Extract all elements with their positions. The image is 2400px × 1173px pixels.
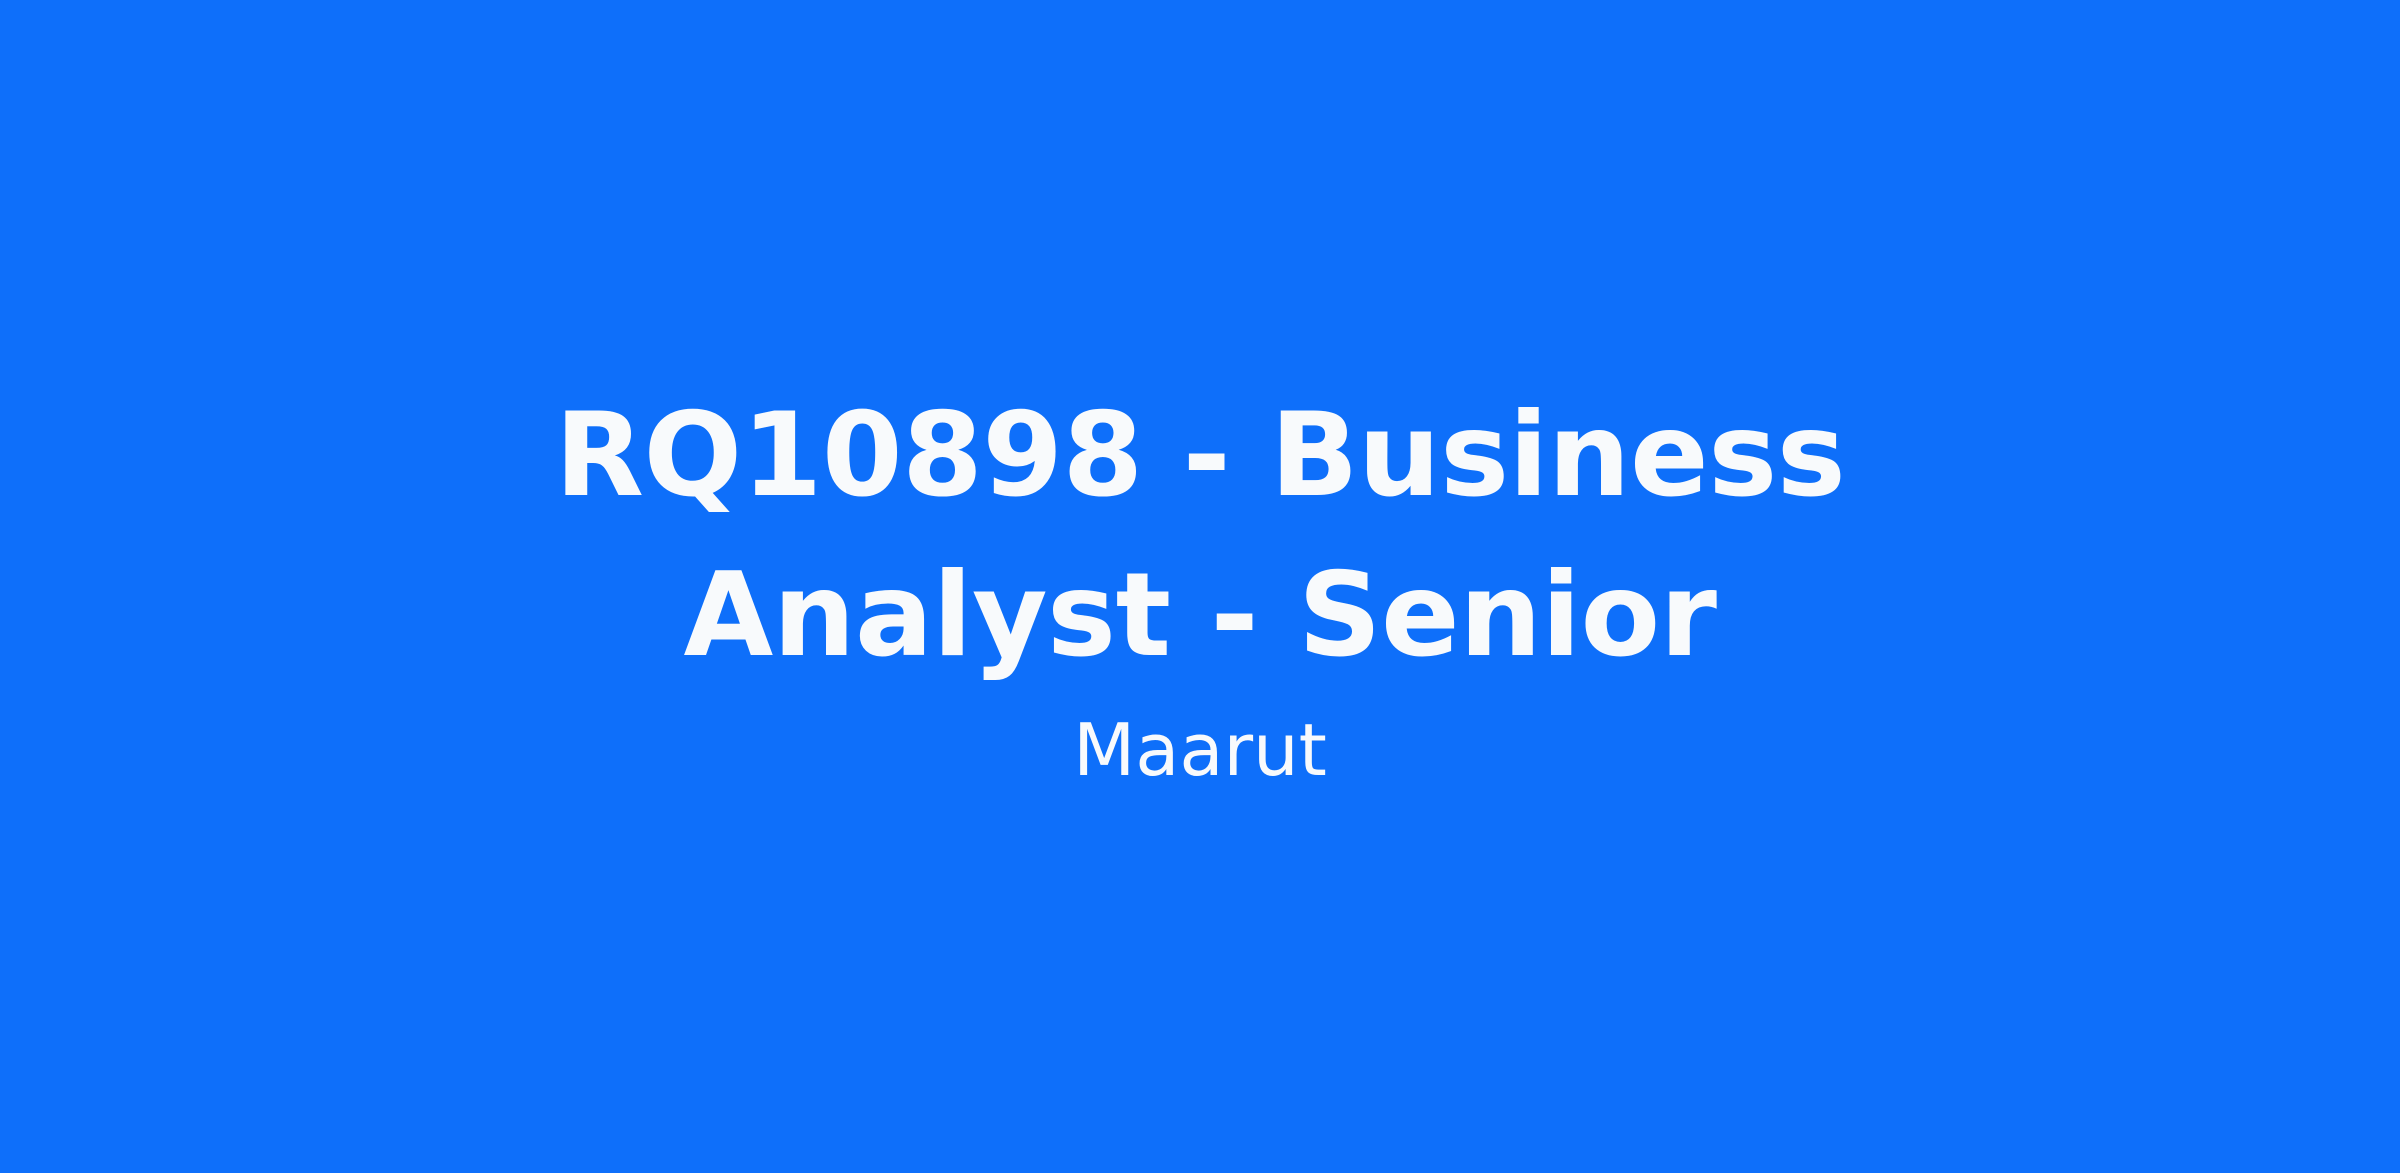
page-title: RQ10898 - Business Analyst - Senior xyxy=(500,376,1900,696)
hero-text-block: RQ10898 - Business Analyst - Senior Maar… xyxy=(500,376,1900,798)
job-posting-hero-card: RQ10898 - Business Analyst - Senior Maar… xyxy=(0,0,2400,1173)
company-name: Maarut xyxy=(1073,704,1327,798)
